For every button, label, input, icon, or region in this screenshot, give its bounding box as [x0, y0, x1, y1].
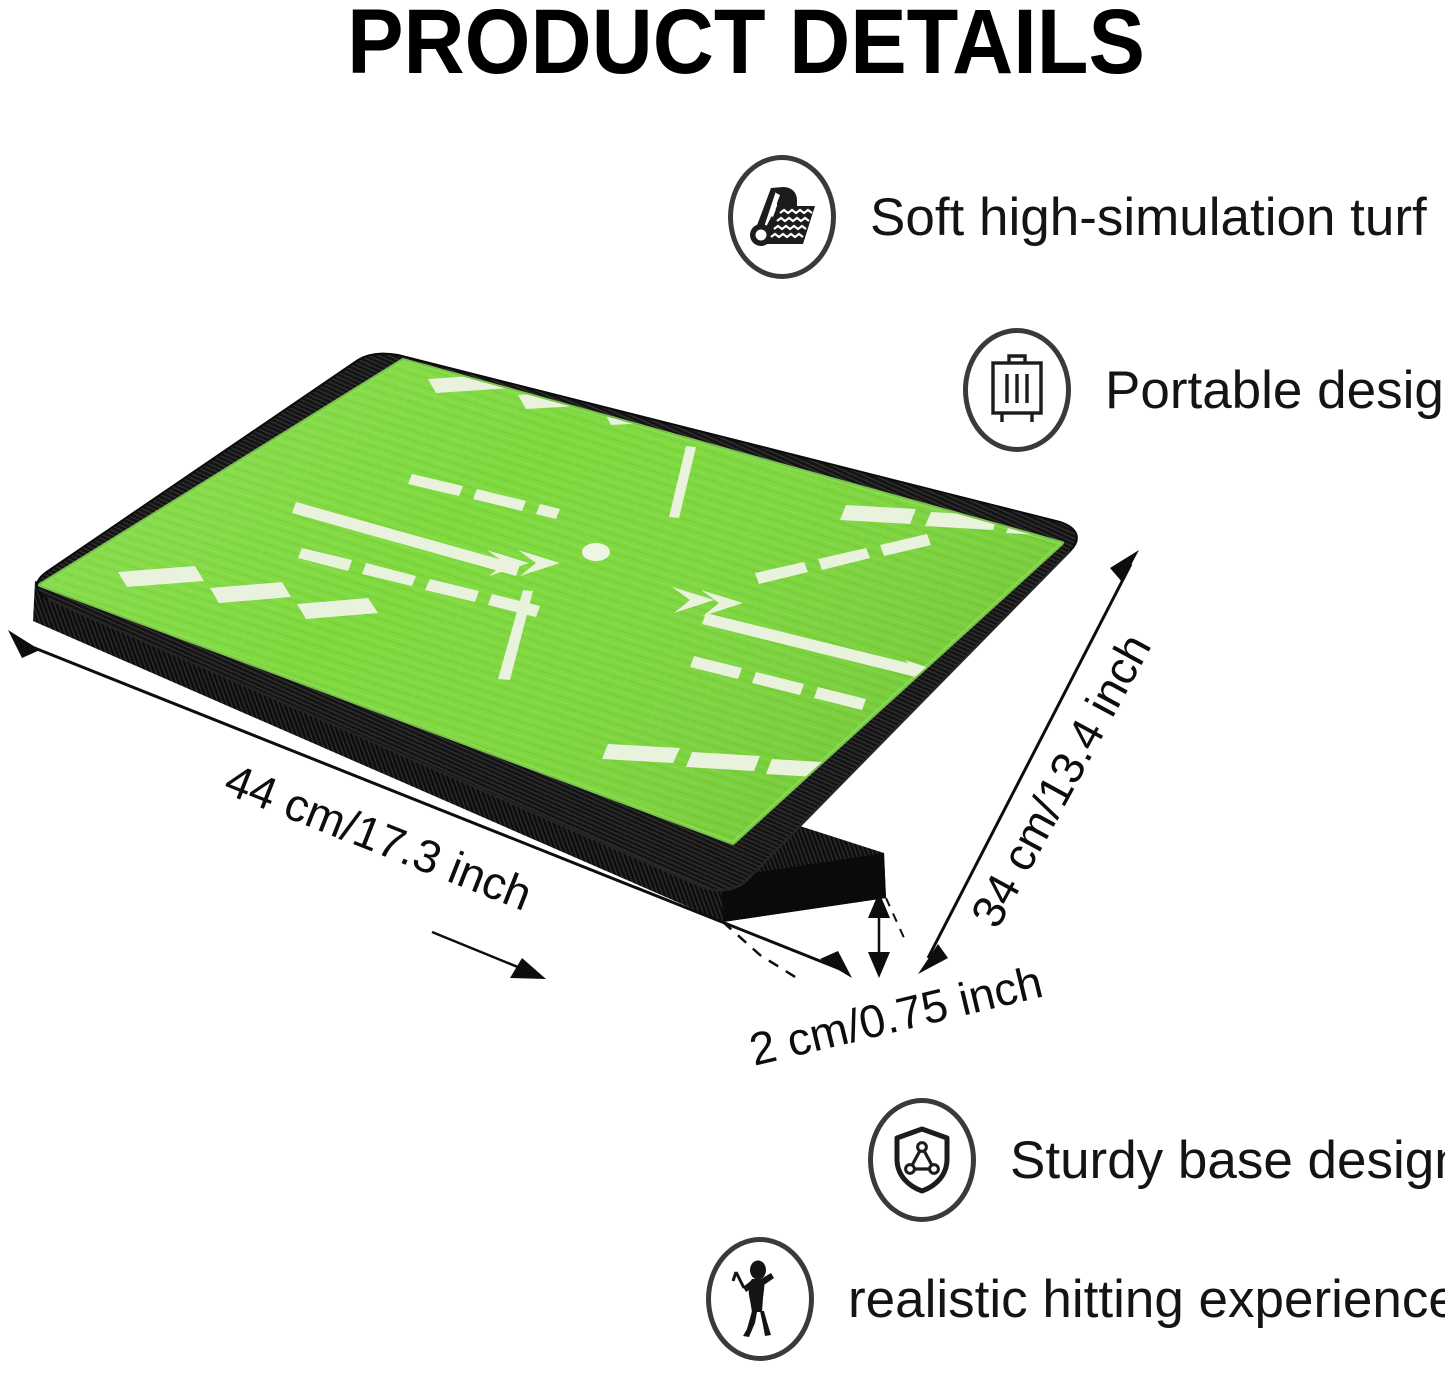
- product-details-infographic: PRODUCT DETAILS: [0, 0, 1445, 1375]
- turf-roll-icon-badge: [728, 155, 836, 279]
- suitcase-icon: [986, 353, 1048, 427]
- shield-icon-badge: [868, 1098, 976, 1222]
- suitcase-icon-badge: [963, 328, 1071, 452]
- feature-label-realistic-hitting: realistic hitting experience: [848, 1273, 1445, 1326]
- turf-roll-icon: [747, 184, 817, 250]
- ball-position-dot: [582, 543, 610, 561]
- turf-surface: [40, 360, 1062, 843]
- golfer-icon: [730, 1260, 790, 1338]
- feature-realistic-hitting: realistic hitting experience: [706, 1237, 1445, 1361]
- feature-label-soft-turf: Soft high-simulation turf: [870, 191, 1427, 244]
- shield-icon: [891, 1125, 953, 1195]
- feature-portable-design: Portable design: [963, 328, 1445, 452]
- feature-soft-turf: Soft high-simulation turf: [728, 155, 1427, 279]
- page-title: PRODUCT DETAILS: [249, 0, 1243, 91]
- feature-sturdy-base: Sturdy base design: [868, 1098, 1445, 1222]
- feature-label-portable-design: Portable design: [1105, 364, 1445, 417]
- feature-label-sturdy-base: Sturdy base design: [1010, 1134, 1445, 1187]
- golfer-icon-badge: [706, 1237, 814, 1361]
